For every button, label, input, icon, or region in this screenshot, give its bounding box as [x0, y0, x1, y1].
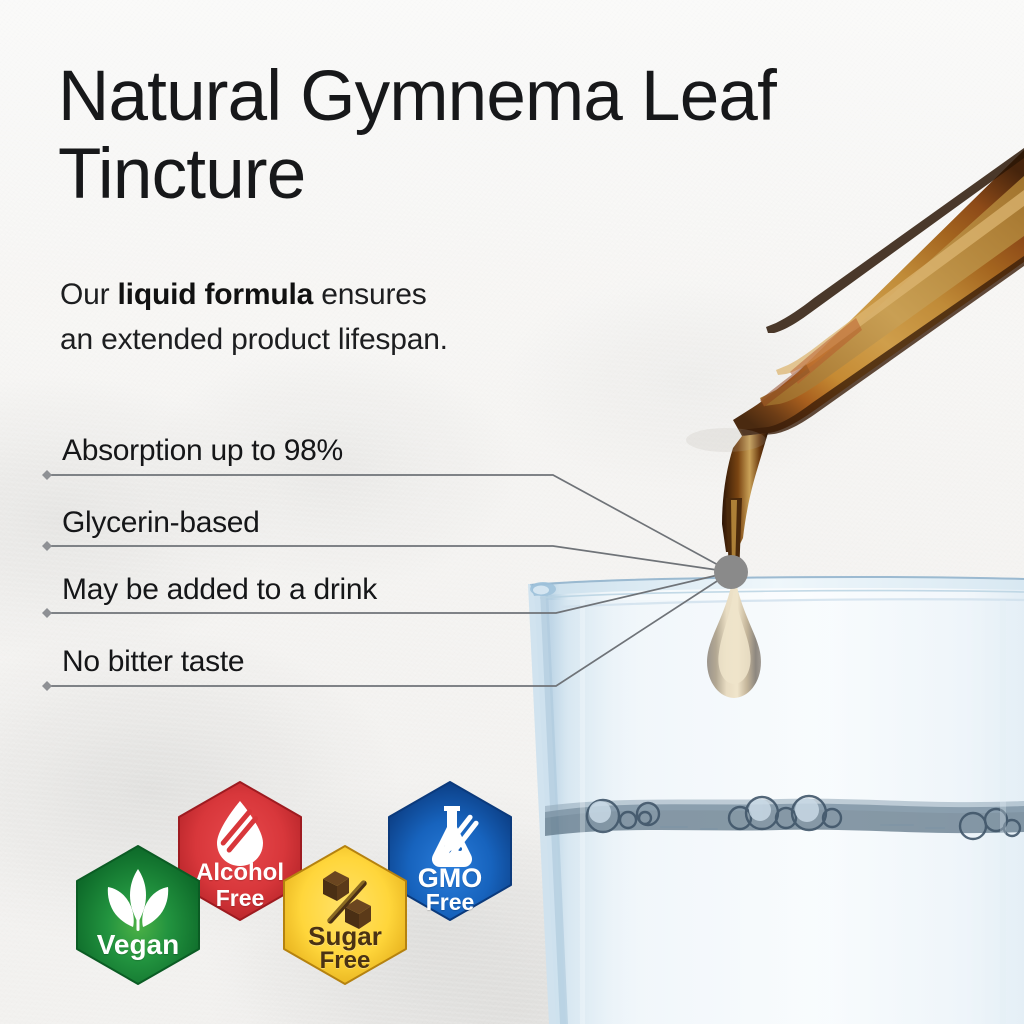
certification-badges: GMO Free	[0, 0, 1024, 1024]
badge-sugar-free[interactable]: Sugar Free	[273, 843, 417, 987]
badge-sugar-free-line2: Free	[273, 949, 417, 973]
badge-sugar-free-line1: Sugar	[273, 923, 417, 950]
badge-vegan-shape	[66, 843, 210, 987]
product-infographic: Natural Gymnema Leaf Tincture Our liquid…	[0, 0, 1024, 1024]
badge-vegan[interactable]: Vegan	[66, 843, 210, 987]
badge-vegan-line1: Vegan	[66, 931, 210, 960]
